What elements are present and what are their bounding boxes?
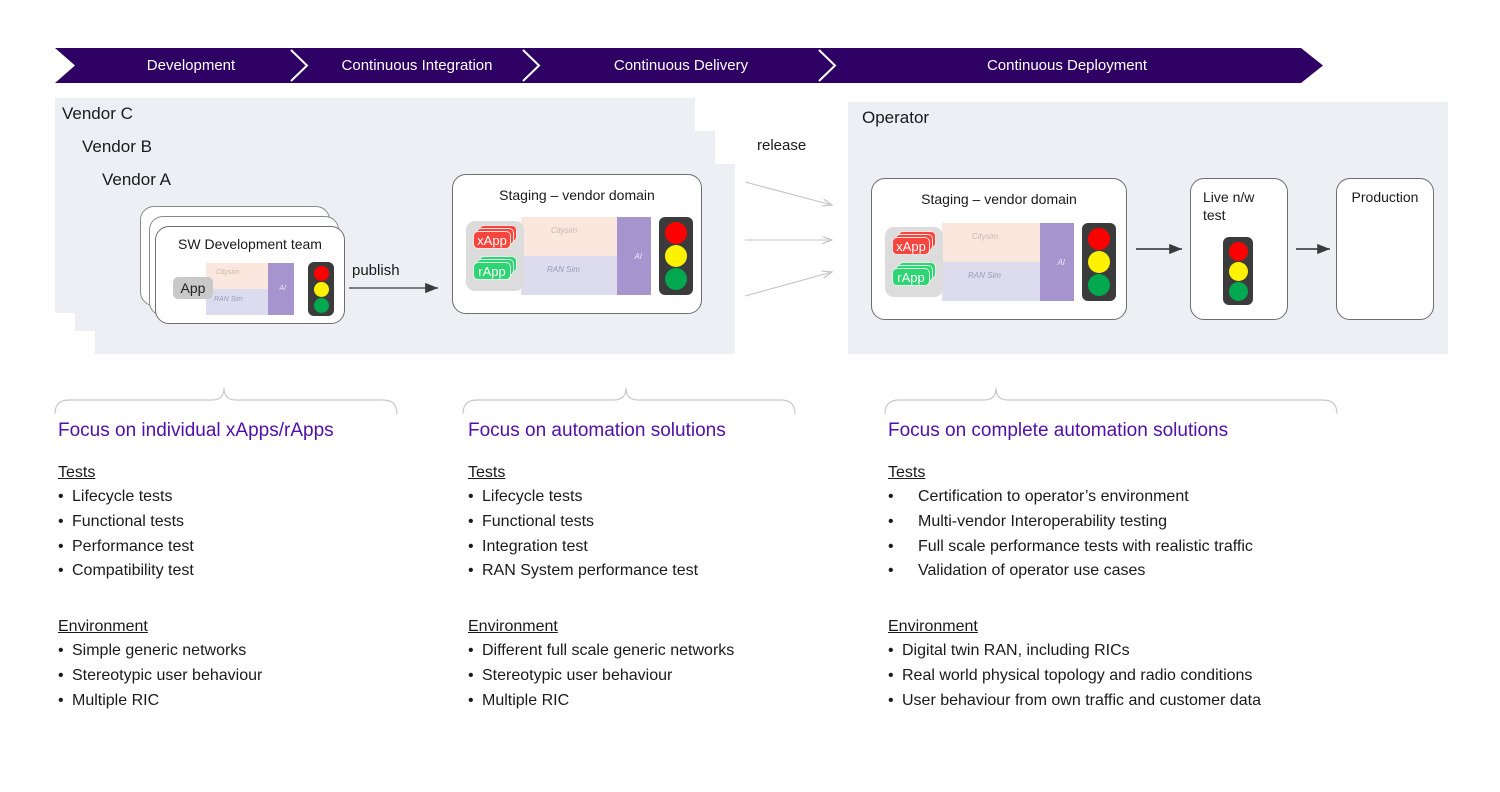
column-1-heading: Focus on individual xApps/rApps — [58, 420, 458, 442]
column-3: Focus on complete automation solutions T… — [888, 420, 1448, 714]
traffic-lamp-red-icon — [314, 266, 329, 281]
list-item: Real world physical topology and radio c… — [888, 664, 1448, 689]
phase-label-development[interactable]: Development — [85, 48, 297, 83]
operator-staging-title: Staging – vendor domain — [872, 191, 1126, 207]
traffic-lamp-red-icon — [665, 222, 687, 244]
list-item: Lifecycle tests — [468, 485, 868, 510]
list-item: Stereotypic user behaviour — [58, 664, 458, 689]
brace-column-3 — [885, 388, 1337, 414]
operator-staging-card[interactable]: Staging – vendor domain Citysim RAN Sim … — [871, 178, 1127, 320]
column-1-environment-list: Simple generic networks Stereotypic user… — [58, 639, 458, 713]
list-item: Multiple RIC — [468, 689, 868, 714]
live-network-test-title: Live n/w test — [1203, 189, 1254, 224]
phase-label-continuous-delivery[interactable]: Continuous Delivery — [543, 48, 819, 83]
list-item: Full scale performance tests with realis… — [888, 535, 1448, 560]
dev-ransim-label: RAN Sim — [214, 296, 243, 303]
column-2-heading: Focus on automation solutions — [468, 420, 868, 442]
dev-sim-panel: Citysim RAN Sim AI — [206, 263, 294, 315]
vendor-xapp-chip[interactable]: xApp — [473, 231, 511, 249]
diagram-canvas: Development Continuous Integration Conti… — [0, 0, 1500, 792]
column-1-spacer — [58, 584, 458, 618]
vendor-a-label: Vendor A — [102, 170, 171, 190]
operator-traffic-light — [1082, 223, 1116, 301]
column-1-tests-title: Tests — [58, 464, 458, 482]
phase-banner: Development Continuous Integration Conti… — [55, 48, 1323, 83]
operator-citysim-label: Citysim — [972, 232, 998, 241]
column-2: Focus on automation solutions Tests Life… — [468, 420, 868, 714]
column-1-environment-title: Environment — [58, 618, 458, 636]
list-item: RAN System performance test — [468, 559, 868, 584]
list-item: Multi-vendor Interoperability testing — [888, 510, 1448, 535]
column-1-tests-list: Lifecycle tests Functional tests Perform… — [58, 485, 458, 584]
group-braces — [55, 388, 1337, 414]
operator-xapp-chip[interactable]: xApp — [892, 237, 930, 255]
column-3-tests-title: Tests — [888, 464, 1448, 482]
list-item: Multiple RIC — [58, 689, 458, 714]
phase-label-continuous-deployment[interactable]: Continuous Deployment — [839, 48, 1295, 83]
column-2-tests-title: Tests — [468, 464, 868, 482]
release-label: release — [757, 137, 806, 154]
list-item: Compatibility test — [58, 559, 458, 584]
traffic-lamp-yellow-icon — [314, 282, 329, 297]
list-item: Different full scale generic networks — [468, 639, 868, 664]
column-3-tests-list: Certification to operator’s environment … — [888, 485, 1448, 584]
traffic-lamp-green-icon — [1088, 274, 1110, 296]
column-1: Focus on individual xApps/rApps Tests Li… — [58, 420, 458, 714]
vendor-b-label: Vendor B — [82, 137, 152, 157]
list-item: Integration test — [468, 535, 868, 560]
traffic-lamp-yellow-icon — [1088, 251, 1110, 273]
vendor-staging-card[interactable]: Staging – vendor domain Citysim RAN Sim … — [452, 174, 702, 314]
list-item: Performance test — [58, 535, 458, 560]
list-item: Stereotypic user behaviour — [468, 664, 868, 689]
list-item: User behaviour from own traffic and cust… — [888, 689, 1448, 714]
operator-ransim-label: RAN Sim — [968, 271, 1001, 280]
list-item: Lifecycle tests — [58, 485, 458, 510]
traffic-lamp-green-icon — [665, 268, 687, 290]
list-item: Functional tests — [58, 510, 458, 535]
app-chip[interactable]: App — [173, 277, 213, 299]
traffic-lamp-red-icon — [1229, 242, 1248, 261]
sw-development-team-title: SW Development team — [156, 236, 344, 252]
column-2-spacer — [468, 584, 868, 618]
list-item: Certification to operator’s environment — [888, 485, 1448, 510]
production-card[interactable]: Production — [1336, 178, 1434, 320]
dev-citysim-label: Citysim — [216, 269, 239, 276]
vendor-rapp-chip[interactable]: rApp — [473, 262, 511, 280]
vendor-traffic-light — [659, 217, 693, 295]
live-test-traffic-light — [1223, 237, 1253, 305]
column-3-environment-title: Environment — [888, 618, 1448, 636]
sw-development-team-card[interactable]: SW Development team Citysim RAN Sim AI A… — [155, 226, 345, 324]
dev-ai-label: AI — [279, 285, 286, 292]
publish-label: publish — [352, 262, 400, 279]
vendor-ai-label: AI — [634, 252, 642, 261]
vendor-citysim-label: Citysim — [551, 226, 577, 235]
traffic-lamp-yellow-icon — [1229, 262, 1248, 281]
traffic-lamp-red-icon — [1088, 228, 1110, 250]
operator-label: Operator — [862, 108, 929, 128]
live-network-test-card[interactable]: Live n/w test — [1190, 178, 1288, 320]
vendor-ransim-label: RAN Sim — [547, 265, 580, 274]
list-item: Functional tests — [468, 510, 868, 535]
column-2-environment-title: Environment — [468, 618, 868, 636]
brace-column-1 — [55, 388, 397, 414]
traffic-lamp-green-icon — [314, 298, 329, 313]
vendor-staging-title: Staging – vendor domain — [453, 187, 701, 203]
brace-column-2 — [463, 388, 795, 414]
column-3-spacer — [888, 584, 1448, 618]
operator-sim-panel: Citysim RAN Sim AI — [942, 223, 1074, 301]
phase-label-continuous-integration[interactable]: Continuous Integration — [311, 48, 523, 83]
column-2-environment-list: Different full scale generic networks St… — [468, 639, 868, 713]
list-item: Validation of operator use cases — [888, 559, 1448, 584]
column-3-environment-list: Digital twin RAN, including RICs Real wo… — [888, 639, 1448, 713]
list-item: Simple generic networks — [58, 639, 458, 664]
operator-ai-label: AI — [1057, 258, 1065, 267]
operator-rapp-chip[interactable]: rApp — [892, 268, 930, 286]
vendor-sim-panel: Citysim RAN Sim AI — [521, 217, 651, 295]
traffic-lamp-green-icon — [1229, 282, 1248, 301]
column-2-tests-list: Lifecycle tests Functional tests Integra… — [468, 485, 868, 584]
column-3-heading: Focus on complete automation solutions — [888, 420, 1448, 442]
dev-traffic-light — [308, 262, 334, 316]
release-arrows — [745, 182, 832, 296]
vendor-c-label: Vendor C — [62, 104, 133, 124]
list-item: Digital twin RAN, including RICs — [888, 639, 1448, 664]
traffic-lamp-yellow-icon — [665, 245, 687, 267]
production-title: Production — [1337, 189, 1433, 205]
